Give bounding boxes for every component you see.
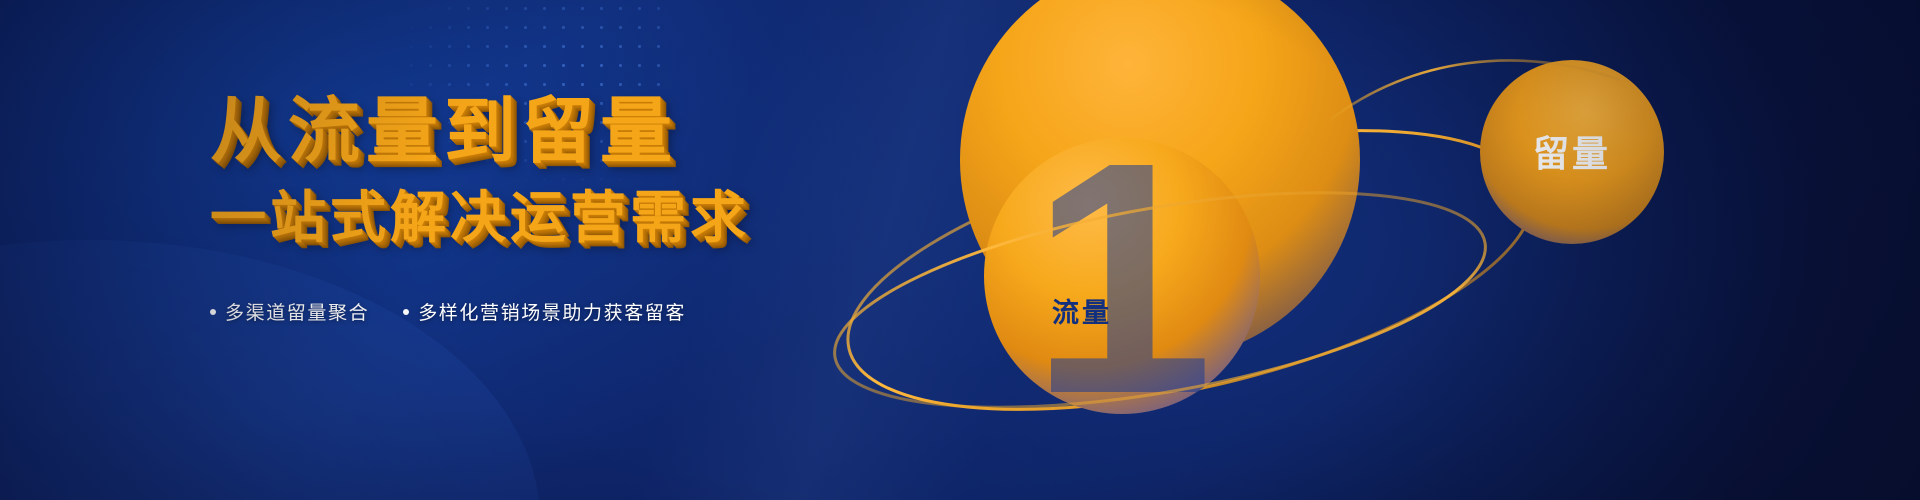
sphere-label-liuliang-right: 留量: [1533, 133, 1611, 174]
feature-bullet-label: 多渠道留量聚合: [225, 298, 369, 325]
feature-bullet-list: 多渠道留量聚合 多样化营销场景助力获客留客: [210, 298, 850, 325]
orbit-spheres-illustration: 1 流量 留量: [730, 0, 1920, 500]
bullet-dot-icon: [403, 309, 409, 315]
feature-bullet-item: 多样化营销场景助力获客留客: [403, 298, 686, 325]
marketing-banner: 1 流量 留量 从流量到留量 一站式解决运营需求 多渠道留量聚合 多样化营销场景…: [0, 0, 1920, 500]
bullet-dot-icon: [210, 309, 216, 315]
sphere-label-liuliang-left: 流量: [1052, 298, 1112, 328]
headline-primary: 从流量到留量: [210, 96, 850, 168]
feature-bullet-item: 多渠道留量聚合: [210, 298, 369, 325]
feature-bullet-label: 多样化营销场景助力获客留客: [418, 298, 686, 325]
headline-secondary: 一站式解决运营需求: [210, 190, 850, 246]
copy-block: 从流量到留量 一站式解决运营需求 多渠道留量聚合 多样化营销场景助力获客留客: [210, 96, 850, 325]
